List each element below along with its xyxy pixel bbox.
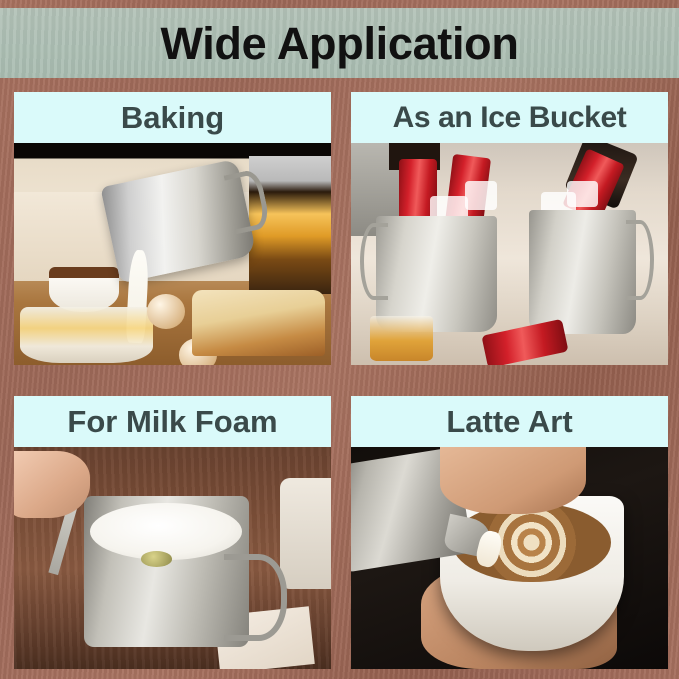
frother-whisk-head: [141, 551, 173, 567]
glass-bowl: [20, 307, 153, 363]
panel-ice-bucket: As an Ice Bucket: [351, 92, 668, 365]
panel-ice-bucket-photo: [351, 143, 668, 365]
egg-icon: [147, 294, 185, 330]
ice-bucket-left: [376, 216, 496, 331]
panel-milk-foam-photo: [14, 447, 331, 669]
page-title: Wide Application: [160, 21, 518, 66]
whiskey-glass: [370, 316, 433, 360]
bread-slices: [192, 290, 325, 357]
panel-baking-label: Baking: [14, 102, 331, 133]
hand-icon: [440, 447, 586, 514]
pitcher-handle: [224, 554, 287, 641]
panel-milk-foam-label: For Milk Foam: [14, 406, 331, 437]
panel-baking-label-band: Baking: [14, 92, 331, 143]
panel-baking-photo: [14, 143, 331, 365]
panel-ice-bucket-label: As an Ice Bucket: [351, 103, 668, 133]
ice-cube: [567, 181, 599, 208]
panel-grid: Baking As an Ice Bucket: [14, 92, 668, 669]
panel-latte-art-label: Latte Art: [351, 406, 668, 437]
poster-root: Wide Application Baking As an Ice: [0, 0, 679, 679]
panel-milk-foam-label-band: For Milk Foam: [14, 396, 331, 447]
ice-bucket-right: [529, 210, 637, 334]
background-cup: [280, 478, 331, 589]
milk-foam: [90, 503, 242, 561]
panel-latte-art-label-band: Latte Art: [351, 396, 668, 447]
panel-ice-bucket-label-band: As an Ice Bucket: [351, 92, 668, 143]
panel-baking: Baking: [14, 92, 331, 365]
ice-cube: [465, 181, 497, 210]
coffee-cup: [49, 267, 119, 311]
panel-latte-art: Latte Art: [351, 396, 668, 669]
panel-latte-art-photo: [351, 447, 668, 669]
soda-can: [482, 319, 570, 365]
hand-icon: [14, 451, 90, 518]
panel-milk-foam: For Milk Foam: [14, 396, 331, 669]
title-band: Wide Application: [0, 8, 679, 78]
